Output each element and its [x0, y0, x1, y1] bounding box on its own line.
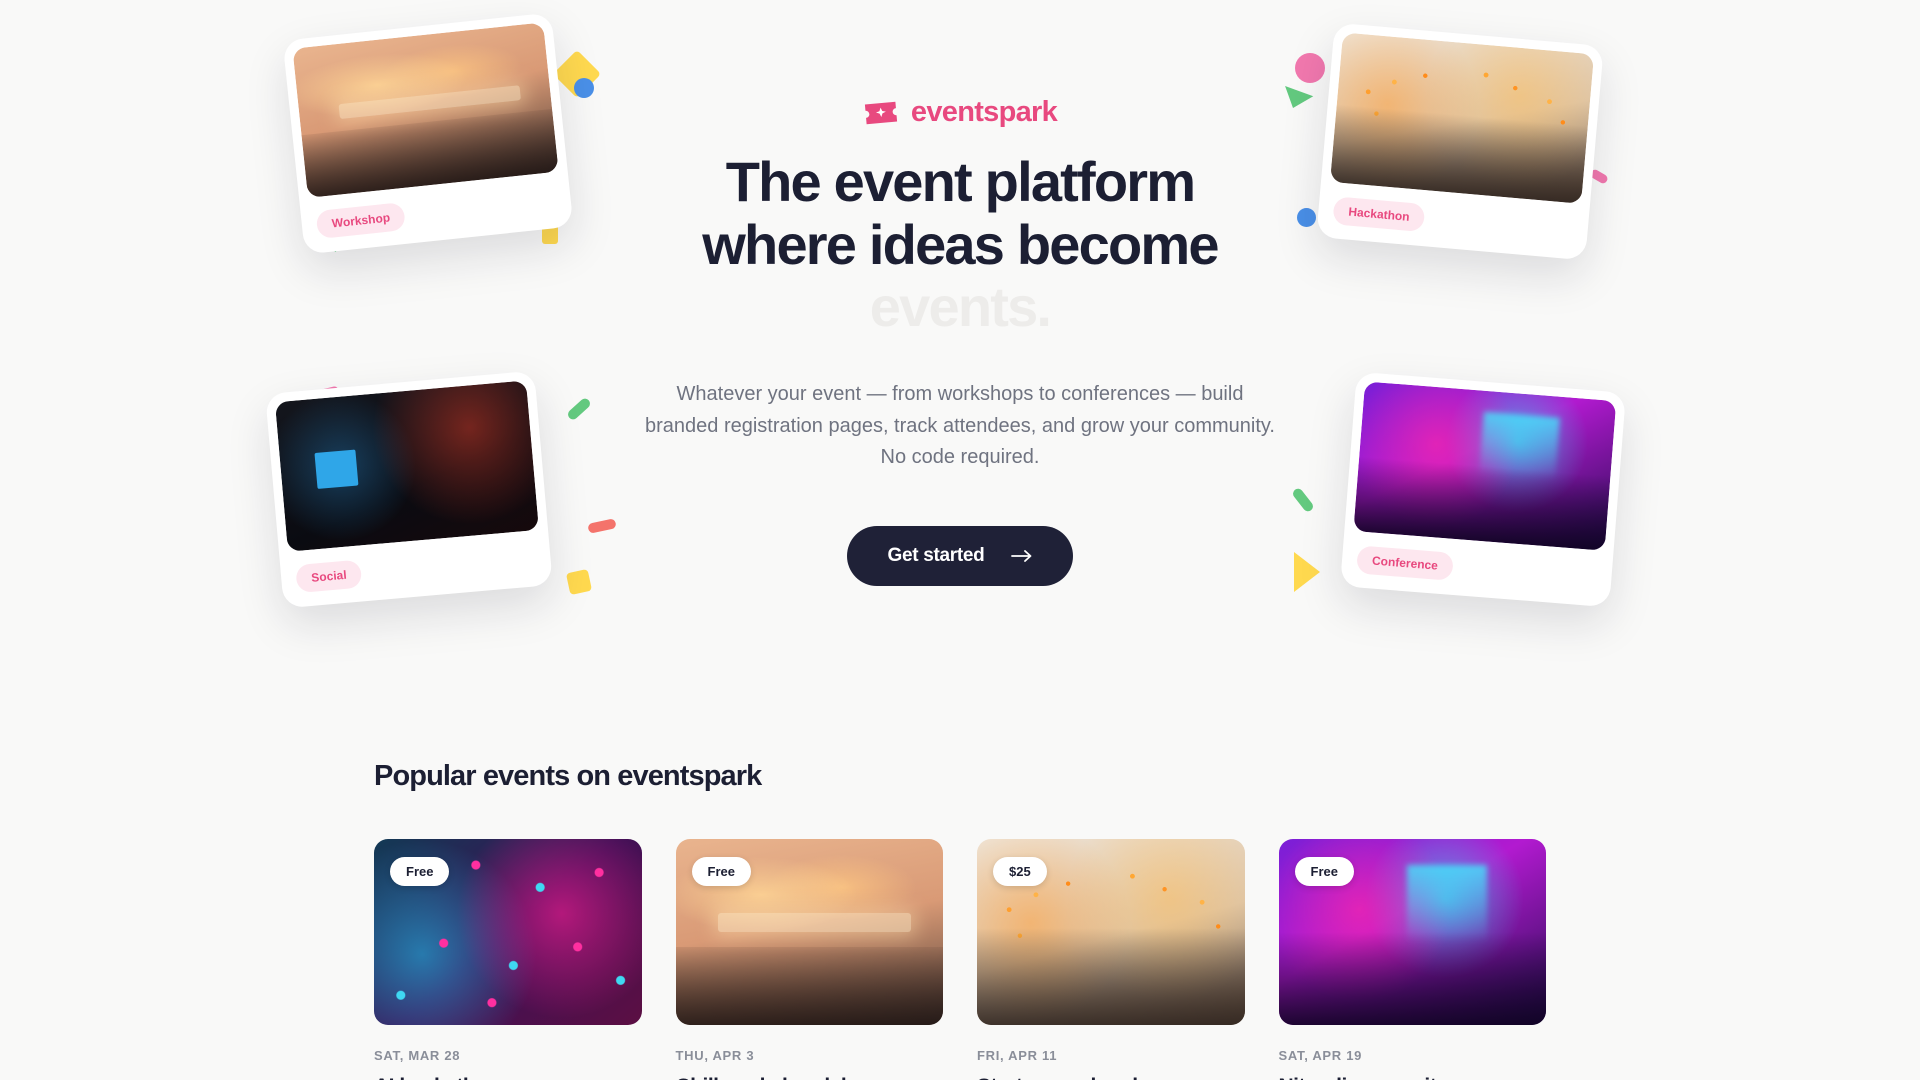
event-thumbnail: Free: [676, 839, 944, 1025]
hero-section: Workshop Hackathon Social: [0, 0, 1920, 760]
decor-circle-pink-right: [1295, 53, 1325, 83]
floating-card-social[interactable]: Social: [265, 371, 553, 609]
headline-line-2: where ideas become: [640, 214, 1280, 277]
hackathon-photo: [1330, 32, 1594, 203]
brand-name: eventspark: [911, 96, 1057, 129]
floating-card-thumbnail: [292, 22, 558, 198]
event-date: SAT, MAR 28: [374, 1048, 642, 1063]
page-title: The event platform where ideas become ev…: [640, 151, 1280, 339]
popular-events-title: Popular events on eventspark: [352, 760, 1568, 793]
category-chip: Workshop: [316, 202, 407, 239]
hero-content: eventspark The event platform where idea…: [640, 96, 1280, 586]
floating-card-workshop[interactable]: Workshop: [283, 12, 574, 254]
cta-container: Get started: [640, 526, 1280, 586]
event-date: THU, APR 3: [676, 1048, 944, 1063]
headline-line-3: events.: [640, 276, 1280, 339]
price-badge: Free: [692, 857, 751, 886]
category-chip: Social: [295, 560, 363, 594]
event-thumbnail: Free: [1279, 839, 1547, 1025]
decor-bar-coral-center: [587, 518, 616, 534]
arrow-right-icon: [1011, 549, 1033, 563]
decor-circle-blue-hero: [574, 78, 594, 98]
category-chip: Hackathon: [1332, 196, 1425, 232]
popular-events-section: Popular events on eventspark Free SAT, M…: [0, 760, 1920, 1080]
event-card[interactable]: $25 FRI, APR 11 Startup weekend: [977, 839, 1245, 1080]
category-chip: Conference: [1356, 545, 1454, 580]
decor-circle-blue-right: [1297, 208, 1316, 227]
decor-bar-green-center: [566, 397, 592, 422]
ticket-icon: [863, 100, 899, 126]
floating-card-thumbnail: [1330, 32, 1594, 203]
price-badge: Free: [1295, 857, 1354, 886]
floating-card-thumbnail: [275, 380, 539, 551]
get-started-label: Get started: [887, 545, 984, 567]
popular-events-inner: Popular events on eventspark Free SAT, M…: [352, 760, 1568, 1080]
brand-logo[interactable]: eventspark: [640, 96, 1280, 129]
price-badge: Free: [390, 857, 449, 886]
event-title: Chill workshop lab: [676, 1074, 944, 1080]
decor-triangle-yellow-conference: [1294, 552, 1320, 592]
event-thumbnail: Free: [374, 839, 642, 1025]
event-date: SAT, APR 19: [1279, 1048, 1547, 1063]
event-thumbnail: $25: [977, 839, 1245, 1025]
decor-square-yellow-social: [566, 569, 592, 595]
workshop-photo: [292, 22, 558, 198]
floating-card-hackathon[interactable]: Hackathon: [1316, 23, 1604, 261]
event-title: Niter dio summit: [1279, 1074, 1547, 1080]
event-card[interactable]: Free SAT, APR 19 Niter dio summit: [1279, 839, 1547, 1080]
event-date: FRI, APR 11: [977, 1048, 1245, 1063]
popular-events-grid: Free SAT, MAR 28 AI hackathon Free THU, …: [352, 839, 1568, 1080]
headline-line-1: The event platform: [640, 151, 1280, 214]
get-started-button[interactable]: Get started: [847, 526, 1072, 586]
decor-bar-green-conference: [1291, 487, 1315, 514]
price-badge: $25: [993, 857, 1047, 886]
floating-card-thumbnail: [1353, 381, 1616, 550]
social-photo: [275, 380, 539, 551]
floating-card-conference[interactable]: Conference: [1340, 372, 1626, 608]
event-title: Startup weekend: [977, 1074, 1245, 1080]
landing-page: Workshop Hackathon Social: [0, 0, 1920, 1080]
conference-photo: [1353, 381, 1616, 550]
event-card[interactable]: Free SAT, MAR 28 AI hackathon: [374, 839, 642, 1080]
hero-subheading: Whatever your event — from workshops to …: [640, 379, 1280, 474]
event-title: AI hackathon: [374, 1074, 642, 1080]
event-card[interactable]: Free THU, APR 3 Chill workshop lab: [676, 839, 944, 1080]
